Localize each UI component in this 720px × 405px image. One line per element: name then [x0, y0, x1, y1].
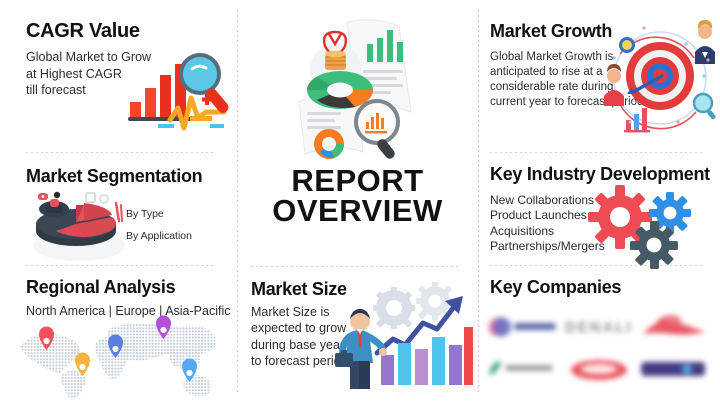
world-map-pins-icon: [12, 318, 228, 402]
logo-red-oval: [562, 350, 636, 388]
key-industry-development-title: Key Industry Development: [490, 165, 720, 185]
panel-cagr-value: CAGR Value Global Market to Grow at High…: [0, 0, 237, 152]
bar-chart-magnifier-pulse-icon: [128, 50, 233, 135]
key-companies-title: Key Companies: [490, 278, 720, 298]
logo-denali: DENALI: [562, 308, 636, 346]
logo-abbott: [486, 308, 560, 346]
logo-red-swoosh: [638, 308, 712, 346]
segmentation-legend-item-1: By Application: [126, 225, 192, 247]
three-gears-icon: [590, 187, 705, 265]
panel-market-size: Market Size Market Size is expected to g…: [237, 267, 478, 405]
panel-market-segmentation: Market Segmentation: [0, 153, 237, 265]
pie-chart-person-laptop-icon: [24, 191, 129, 263]
businessman-gears-growth-chart-icon: [333, 283, 473, 393]
panel-report-overview: REPORT OVERVIEW: [237, 0, 478, 266]
segmentation-title: Market Segmentation: [26, 167, 237, 187]
logo-prevail: [638, 350, 712, 388]
target-dartboard-people-icon: [600, 14, 720, 138]
center-column: REPORT OVERVIEW Market Size Market Size …: [237, 0, 478, 405]
cagr-title: CAGR Value: [26, 20, 237, 42]
infographic-page: CAGR Value Global Market to Grow at High…: [0, 0, 720, 404]
logo-green-mark: [486, 350, 560, 388]
segmentation-legend-item-0: By Type: [126, 203, 192, 225]
panel-key-companies: Key Companies DENALI: [478, 266, 720, 404]
regional-subtitle: North America | Europe | Asia-Pacific: [26, 303, 237, 320]
key-companies-logo-grid: DENALI: [486, 308, 711, 388]
report-documents-lightbulb-magnifier-icon: [289, 14, 434, 166]
right-column: Market Growth Global Market Growth is an…: [478, 0, 720, 405]
overview-title-line-2: OVERVIEW: [237, 196, 478, 226]
logo-denali-text: DENALI: [565, 319, 633, 336]
overview-title-line-1: REPORT: [237, 166, 478, 196]
panel-regional-analysis: Regional Analysis North America | Europe…: [0, 266, 237, 404]
panel-key-industry-development: Key Industry Development New Collaborati…: [478, 153, 720, 265]
regional-title: Regional Analysis: [26, 278, 237, 298]
page-title: REPORT OVERVIEW: [237, 166, 478, 227]
left-column: CAGR Value Global Market to Grow at High…: [0, 0, 237, 405]
segmentation-legend: By Type By Application: [126, 203, 192, 247]
panel-market-growth: Market Growth Global Market Growth is an…: [478, 0, 720, 152]
